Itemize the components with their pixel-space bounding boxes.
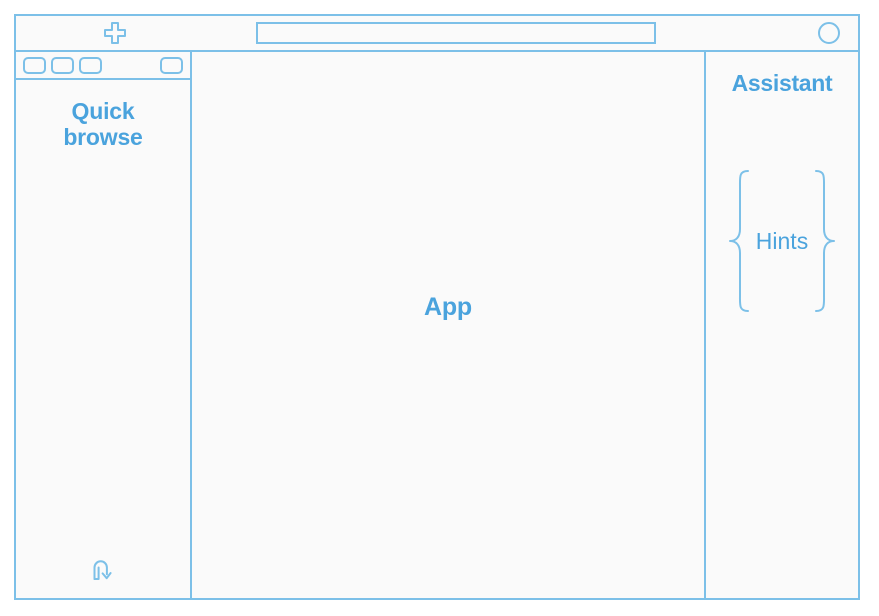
- hints-label: Hints: [752, 228, 812, 255]
- sidebar-footer: [16, 554, 190, 598]
- sidebar-toolbar: [16, 52, 190, 80]
- address-bar-input[interactable]: [256, 22, 656, 44]
- toolbar-chip-2[interactable]: [51, 57, 74, 74]
- toolbar-chip-trailing[interactable]: [160, 57, 183, 74]
- app-content-panel: App: [192, 52, 706, 598]
- left-brace-icon: [726, 167, 752, 315]
- app-label: App: [424, 293, 472, 322]
- hints-block: Hints: [706, 167, 858, 315]
- toolbar-chip-3[interactable]: [79, 57, 102, 74]
- assistant-title: Assistant: [732, 70, 833, 97]
- new-tab-button[interactable]: [100, 19, 130, 47]
- quick-browse-title: Quick browse: [63, 98, 142, 151]
- plus-icon: [102, 20, 128, 46]
- sidebar-content: Quick browse: [16, 80, 190, 598]
- body-row: Quick browse App Assistant: [16, 52, 858, 598]
- u-turn-arrow-icon[interactable]: [88, 554, 118, 584]
- wireframe-window: Quick browse App Assistant: [14, 14, 860, 600]
- assistant-panel: Assistant Hints: [706, 52, 858, 598]
- quick-browse-sidebar: Quick browse: [16, 52, 192, 598]
- toolbar-chip-1[interactable]: [23, 57, 46, 74]
- circle-avatar-icon[interactable]: [818, 22, 840, 44]
- right-brace-icon: [812, 167, 838, 315]
- top-bar: [16, 16, 858, 52]
